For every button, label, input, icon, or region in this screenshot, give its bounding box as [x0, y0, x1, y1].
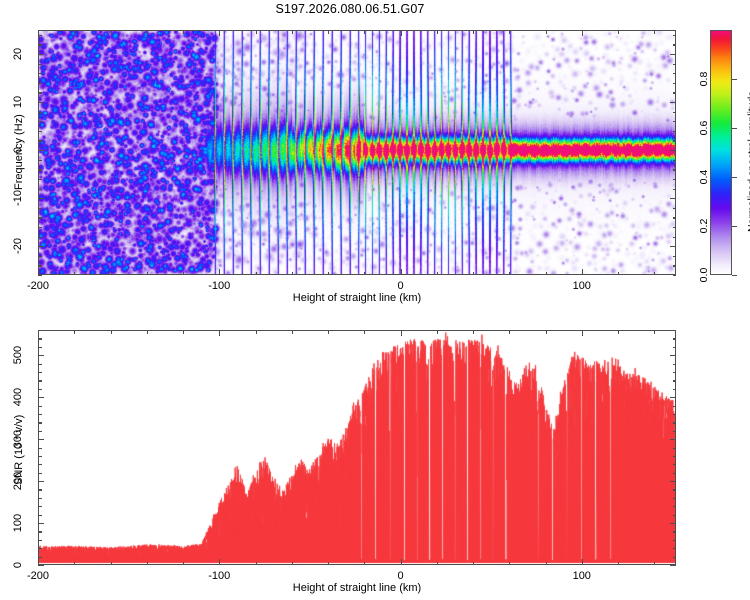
ytick-minor-right [673, 473, 677, 474]
ytick-major-left [38, 523, 44, 524]
xtick-minor-bottom [546, 562, 547, 566]
colorbar [710, 30, 732, 275]
xtick-minor-top [546, 330, 547, 334]
xtick-label: 100 [573, 570, 591, 582]
xtick-label: -100 [208, 280, 230, 292]
xtick-minor-bottom [509, 562, 510, 566]
ytick-minor-left [38, 380, 42, 381]
ytick-major-left [38, 397, 44, 398]
ytick-major-right [670, 102, 676, 103]
xtick-major-bottom [401, 559, 402, 565]
xtick-minor-top [654, 30, 655, 34]
xtick-minor-top [364, 30, 365, 34]
ytick-minor-left [38, 169, 42, 170]
ytick-minor-left [38, 227, 42, 228]
xtick-minor-bottom [618, 562, 619, 566]
ytick-minor-left [38, 121, 42, 122]
ytick-minor-right [673, 330, 677, 331]
ytick-minor-right [673, 372, 677, 373]
spectrogram-image [39, 31, 675, 274]
ytick-minor-right [673, 160, 677, 161]
ytick-major-right [670, 54, 676, 55]
ytick-minor-left [38, 92, 42, 93]
xtick-minor-top [74, 330, 75, 334]
xtick-minor-bottom [654, 562, 655, 566]
ytick-major-right [670, 439, 676, 440]
xtick-minor-top [147, 330, 148, 334]
xtick-minor-top [183, 30, 184, 34]
spectrogram-yaxis-label: Frequency (Hz) [13, 114, 25, 190]
ytick-minor-left [38, 44, 42, 45]
xtick-minor-bottom [74, 272, 75, 276]
ytick-minor-left [38, 73, 42, 74]
ytick-major-left [38, 439, 44, 440]
ytick-minor-left [38, 515, 42, 516]
xtick-minor-top [654, 330, 655, 334]
ytick-minor-right [673, 112, 677, 113]
xtick-minor-top [147, 30, 148, 34]
ytick-minor-left [38, 414, 42, 415]
xtick-minor-top [292, 330, 293, 334]
ytick-minor-left [38, 112, 42, 113]
xtick-minor-bottom [256, 272, 257, 276]
ytick-minor-left [38, 131, 42, 132]
ytick-minor-left [38, 189, 42, 190]
ytick-minor-right [673, 498, 677, 499]
xtick-minor-bottom [147, 562, 148, 566]
ytick-major-right [670, 397, 676, 398]
figure-root: S197.2026.080.06.51.G07 -200-1000100-20-… [0, 0, 750, 600]
xtick-minor-top [473, 30, 474, 34]
ytick-minor-right [673, 237, 677, 238]
ytick-minor-left [38, 347, 42, 348]
xtick-minor-top [74, 30, 75, 34]
ytick-minor-left [38, 217, 42, 218]
xtick-minor-bottom [509, 272, 510, 276]
xtick-major-top [582, 30, 583, 36]
ytick-minor-left [38, 548, 42, 549]
ytick-major-right [670, 523, 676, 524]
xtick-minor-top [111, 330, 112, 334]
colorbar-label: Normalized spectral amplitude [746, 91, 750, 232]
colorbar-tick [732, 177, 737, 178]
ytick-minor-right [673, 73, 677, 74]
ytick-minor-right [673, 208, 677, 209]
xtick-minor-bottom [473, 562, 474, 566]
ytick-major-left [38, 102, 44, 103]
ytick-major-right [670, 198, 676, 199]
ytick-minor-left [38, 406, 42, 407]
xtick-minor-bottom [546, 272, 547, 276]
spectrogram-xaxis-label: Height of straight line (km) [293, 292, 421, 304]
colorbar-tick [732, 128, 737, 129]
ytick-minor-right [673, 131, 677, 132]
xtick-minor-top [509, 330, 510, 334]
ytick-minor-left [38, 83, 42, 84]
ytick-minor-right [673, 189, 677, 190]
xtick-minor-top [437, 30, 438, 34]
ytick-minor-right [673, 531, 677, 532]
ytick-minor-right [673, 35, 677, 36]
ytick-minor-right [673, 64, 677, 65]
colorbar-tick [732, 226, 737, 227]
xtick-minor-bottom [618, 272, 619, 276]
ytick-major-left [38, 246, 44, 247]
xtick-minor-bottom [111, 562, 112, 566]
ytick-major-left [38, 198, 44, 199]
ytick-minor-left [38, 265, 42, 266]
ytick-minor-left [38, 473, 42, 474]
ytick-major-left [38, 150, 44, 151]
ytick-minor-right [673, 338, 677, 339]
ytick-minor-right [673, 92, 677, 93]
ytick-minor-right [673, 256, 677, 257]
ytick-minor-right [673, 380, 677, 381]
ytick-minor-right [673, 422, 677, 423]
ytick-label: 10 [12, 88, 24, 116]
ytick-label: 400 [12, 383, 24, 411]
xtick-minor-top [618, 330, 619, 334]
colorbar-gradient [711, 31, 731, 274]
ytick-minor-left [38, 364, 42, 365]
ytick-major-right [670, 565, 676, 566]
xtick-minor-top [256, 30, 257, 34]
xtick-label: 0 [397, 280, 403, 292]
snr-yaxis-label: SNR (10 * v/v) [13, 415, 25, 485]
ytick-minor-left [38, 506, 42, 507]
ytick-minor-right [673, 347, 677, 348]
xtick-major-top [401, 30, 402, 36]
spectrogram-plot-area [38, 30, 676, 275]
ytick-minor-right [673, 179, 677, 180]
xtick-label: -100 [208, 570, 230, 582]
snr-xaxis-label: Height of straight line (km) [293, 582, 421, 594]
ytick-major-right [670, 481, 676, 482]
xtick-minor-bottom [292, 272, 293, 276]
colorbar-tick [732, 275, 737, 276]
xtick-minor-bottom [292, 562, 293, 566]
ytick-minor-left [38, 275, 42, 276]
xtick-minor-bottom [654, 272, 655, 276]
ytick-minor-left [38, 372, 42, 373]
ytick-minor-right [673, 448, 677, 449]
xtick-minor-top [111, 30, 112, 34]
page-title: S197.2026.080.06.51.G07 [0, 2, 700, 16]
xtick-minor-top [546, 30, 547, 34]
ytick-minor-left [38, 489, 42, 490]
ytick-minor-left [38, 498, 42, 499]
ytick-minor-right [673, 540, 677, 541]
xtick-major-bottom [219, 269, 220, 275]
xtick-minor-top [328, 30, 329, 34]
xtick-minor-bottom [437, 562, 438, 566]
xtick-minor-bottom [147, 272, 148, 276]
ytick-minor-right [673, 121, 677, 122]
colorbar-tick [732, 79, 737, 80]
xtick-minor-bottom [74, 562, 75, 566]
ytick-minor-right [673, 44, 677, 45]
xtick-minor-bottom [183, 272, 184, 276]
xtick-major-bottom [401, 269, 402, 275]
ytick-minor-left [38, 208, 42, 209]
ytick-minor-left [38, 422, 42, 423]
xtick-label: 0 [397, 570, 403, 582]
ytick-minor-right [673, 557, 677, 558]
xtick-label: -200 [27, 570, 49, 582]
ytick-minor-right [673, 431, 677, 432]
ytick-minor-right [673, 414, 677, 415]
ytick-minor-left [38, 431, 42, 432]
ytick-minor-left [38, 237, 42, 238]
xtick-minor-bottom [111, 272, 112, 276]
ytick-minor-left [38, 160, 42, 161]
xtick-major-top [582, 330, 583, 336]
xtick-minor-top [292, 30, 293, 34]
ytick-label: -20 [12, 232, 24, 260]
ytick-minor-left [38, 448, 42, 449]
ytick-minor-left [38, 338, 42, 339]
ytick-minor-right [673, 506, 677, 507]
xtick-minor-top [364, 330, 365, 334]
ytick-label: 0 [12, 551, 24, 579]
xtick-minor-top [183, 330, 184, 334]
ytick-minor-left [38, 557, 42, 558]
ytick-minor-right [673, 83, 677, 84]
xtick-minor-top [256, 330, 257, 334]
ytick-label: 100 [12, 509, 24, 537]
ytick-minor-right [673, 140, 677, 141]
ytick-minor-left [38, 256, 42, 257]
ytick-minor-right [673, 548, 677, 549]
xtick-minor-top [328, 330, 329, 334]
ytick-minor-left [38, 389, 42, 390]
ytick-minor-right [673, 227, 677, 228]
xtick-major-top [401, 330, 402, 336]
colorbar-tick-label: 0.4 [698, 163, 710, 191]
colorbar-tick-label: 0.6 [698, 114, 710, 142]
ytick-minor-right [673, 275, 677, 276]
ytick-minor-left [38, 330, 42, 331]
colorbar-tick-label: 0.0 [698, 261, 710, 289]
ytick-minor-left [38, 140, 42, 141]
ytick-major-left [38, 565, 44, 566]
xtick-minor-bottom [364, 562, 365, 566]
xtick-minor-top [473, 330, 474, 334]
ytick-minor-right [673, 456, 677, 457]
ytick-minor-left [38, 35, 42, 36]
colorbar-tick-label: 0.2 [698, 212, 710, 240]
snr-plot-area [38, 330, 676, 565]
xtick-major-top [219, 330, 220, 336]
ytick-major-left [38, 355, 44, 356]
ytick-minor-right [673, 169, 677, 170]
xtick-minor-bottom [473, 272, 474, 276]
ytick-major-right [670, 150, 676, 151]
ytick-minor-left [38, 456, 42, 457]
ytick-major-right [670, 246, 676, 247]
xtick-label: 100 [573, 280, 591, 292]
ytick-minor-left [38, 540, 42, 541]
ytick-label: 500 [12, 341, 24, 369]
ytick-major-right [670, 355, 676, 356]
ytick-label: 20 [12, 40, 24, 68]
xtick-minor-bottom [328, 272, 329, 276]
xtick-minor-top [509, 30, 510, 34]
snr-trace [39, 331, 675, 564]
ytick-major-left [38, 54, 44, 55]
xtick-minor-bottom [364, 272, 365, 276]
ytick-minor-right [673, 406, 677, 407]
ytick-minor-right [673, 389, 677, 390]
xtick-minor-bottom [437, 272, 438, 276]
xtick-minor-bottom [256, 562, 257, 566]
ytick-minor-right [673, 489, 677, 490]
ytick-major-left [38, 481, 44, 482]
ytick-minor-left [38, 464, 42, 465]
xtick-major-bottom [219, 559, 220, 565]
xtick-minor-bottom [183, 562, 184, 566]
xtick-minor-top [437, 330, 438, 334]
xtick-minor-top [618, 30, 619, 34]
ytick-minor-right [673, 515, 677, 516]
xtick-major-bottom [582, 269, 583, 275]
xtick-label: -200 [27, 280, 49, 292]
colorbar-tick-label: 0.8 [698, 65, 710, 93]
ytick-minor-left [38, 64, 42, 65]
xtick-minor-bottom [328, 562, 329, 566]
ytick-minor-right [673, 265, 677, 266]
xtick-major-bottom [582, 559, 583, 565]
ytick-minor-left [38, 531, 42, 532]
ytick-minor-right [673, 364, 677, 365]
ytick-minor-right [673, 217, 677, 218]
xtick-major-top [219, 30, 220, 36]
ytick-minor-right [673, 464, 677, 465]
ytick-minor-left [38, 179, 42, 180]
